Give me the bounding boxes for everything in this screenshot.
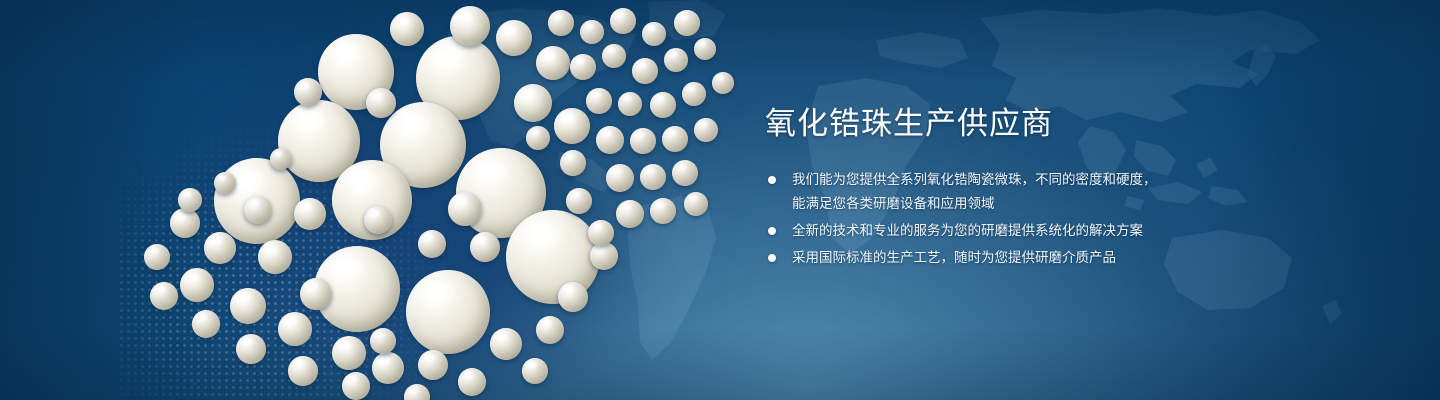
bead [694,118,718,142]
bead [372,352,404,384]
bead [522,358,548,384]
bead [180,268,214,302]
bead [650,92,676,118]
bead [278,312,312,346]
list-item: 采用国际标准的生产工艺，随时为您提供研磨介质产品 [765,246,1325,270]
bead [230,288,266,324]
bead [204,232,236,264]
bead [236,334,266,364]
bead [590,242,618,270]
bead [640,164,666,190]
page-title: 氧化锆珠生产供应商 [765,104,1325,144]
bead [170,208,200,238]
bead [684,192,708,216]
bead-cluster [118,0,758,400]
bead [650,198,676,224]
list-item: 全新的技术和专业的服务为您的研磨提供系统化的解决方案 [765,219,1325,243]
bead [366,88,396,118]
zirconia-beads-photo [118,0,758,400]
bead [548,10,574,36]
list-item-line: 我们能为您提供全系列氧化锆陶瓷微珠，不同的密度和硬度， [792,168,1325,192]
bead [418,350,448,380]
bead [418,230,446,258]
list-item-line: 采用国际标准的生产工艺，随时为您提供研磨介质产品 [792,246,1325,270]
bead [294,78,322,106]
bullet-dot-icon [768,254,776,262]
bead [364,206,392,234]
bead [602,44,626,68]
bead [406,270,490,354]
banner-copy: 氧化锆珠生产供应商 我们能为您提供全系列氧化锆陶瓷微珠，不同的密度和硬度， 能满… [765,104,1325,273]
bead [192,310,220,338]
bead [694,38,716,60]
bead [342,372,370,400]
bead [178,188,202,212]
bead [536,46,570,80]
hero-banner: 氧化锆珠生产供应商 我们能为您提供全系列氧化锆陶瓷微珠，不同的密度和硬度， 能满… [0,0,1440,400]
bead [258,240,292,274]
bead [150,282,178,310]
bead [332,336,366,370]
bead [458,368,486,396]
bead [450,6,490,46]
bead [244,196,272,224]
bead [610,8,636,34]
bead [294,198,326,230]
bead [514,84,552,122]
bead [618,92,642,116]
bead [300,278,332,310]
bead [566,188,592,214]
bead [554,108,590,144]
bead [470,232,500,262]
bead [560,150,586,176]
list-item-line: 能满足您各类研磨设备和应用领域 [792,192,1325,216]
bead [664,48,688,72]
feature-list: 我们能为您提供全系列氧化锆陶瓷微珠，不同的密度和硬度， 能满足您各类研磨设备和应… [765,168,1325,270]
bead [214,172,236,194]
bead [586,88,612,114]
bead [370,328,396,354]
bead [270,148,292,170]
bead [630,128,656,154]
bead [632,58,658,84]
bead [642,22,666,46]
bullet-dot-icon [768,227,776,235]
bead [712,72,734,94]
bead [526,126,550,150]
bead [662,126,688,152]
bead [672,160,698,186]
bead [674,10,700,36]
bullet-dot-icon [768,176,776,184]
bead [390,12,424,46]
bead [616,200,644,228]
bead [536,316,564,344]
bead [144,244,170,270]
bead [606,164,634,192]
bead [288,356,318,386]
bead [580,20,604,44]
bead [448,192,482,226]
bead [588,220,614,246]
bead [558,282,588,312]
bead [496,20,532,56]
list-item-line: 全新的技术和专业的服务为您的研磨提供系统化的解决方案 [792,219,1325,243]
bead [596,126,624,154]
bead [682,82,706,106]
bead [570,54,596,80]
bead [404,384,430,400]
list-item: 我们能为您提供全系列氧化锆陶瓷微珠，不同的密度和硬度， 能满足您各类研磨设备和应… [765,168,1325,216]
bead [490,328,522,360]
